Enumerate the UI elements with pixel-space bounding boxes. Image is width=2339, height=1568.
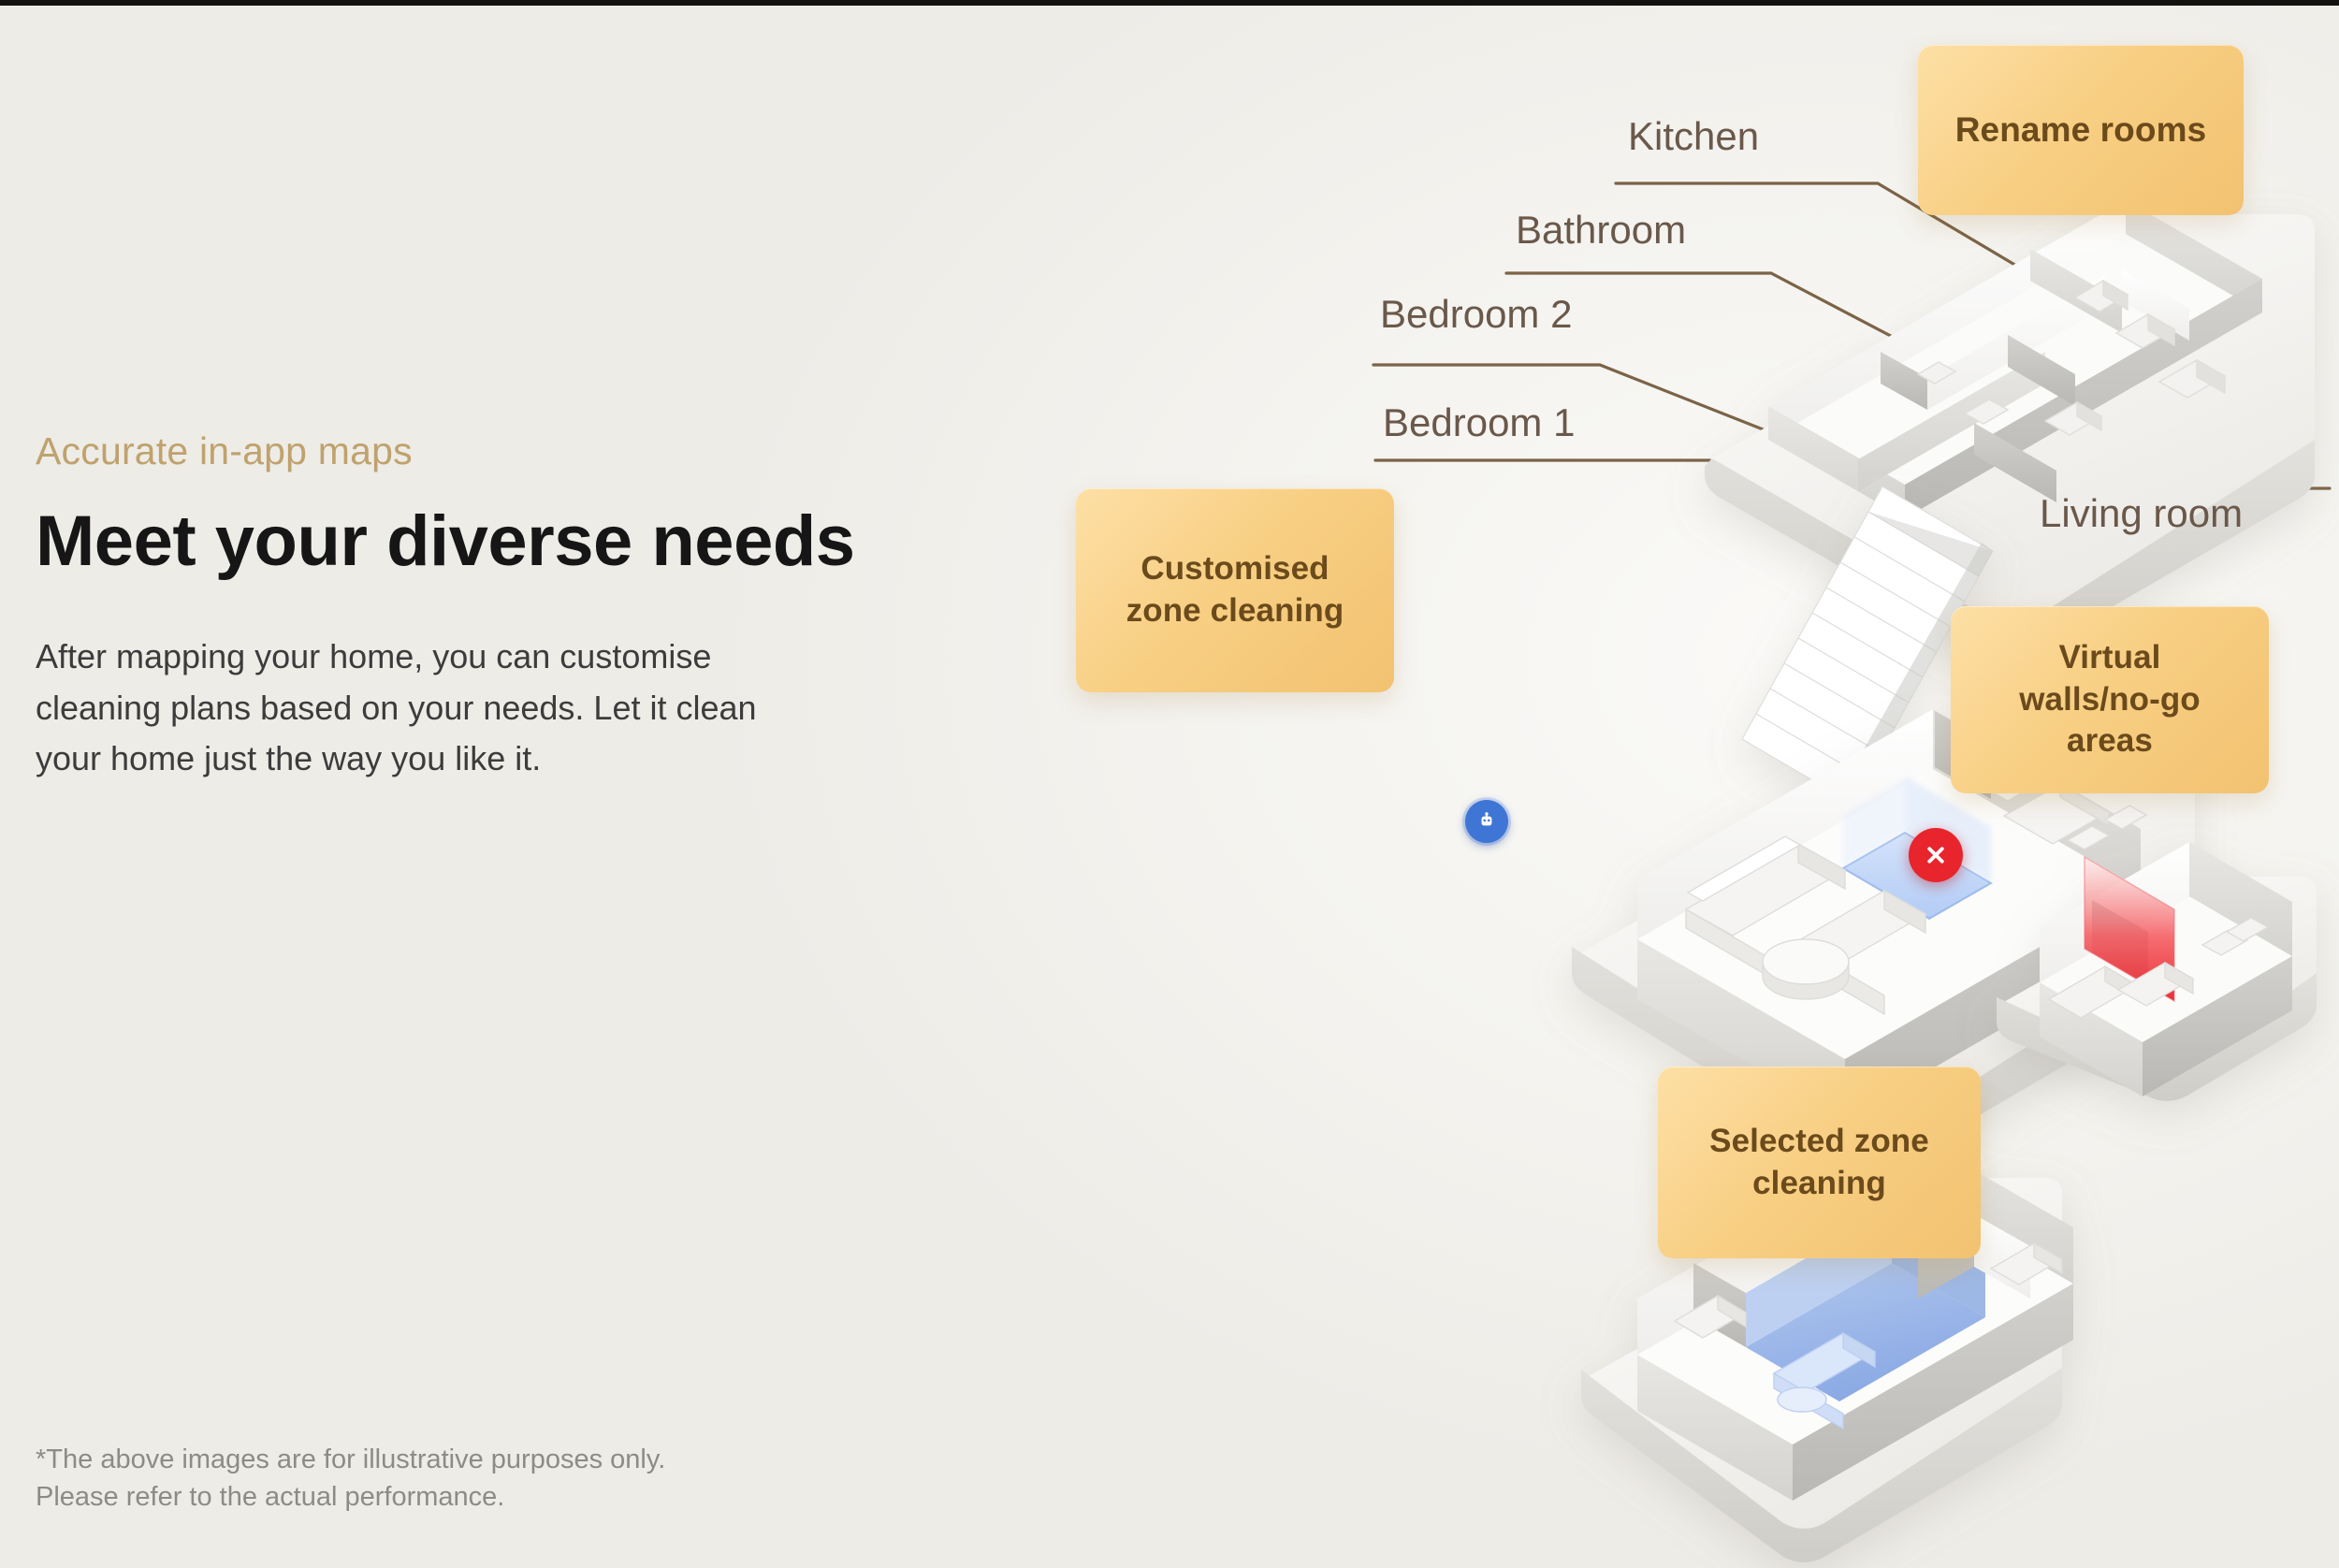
callout-selected-line-2: cleaning — [1709, 1163, 1929, 1205]
callout-selected-line-1: Selected zone — [1709, 1121, 1929, 1163]
top-edge-bar — [0, 0, 2339, 6]
callout-selected-zone-cleaning[interactable]: Selected zone cleaning — [1658, 1067, 1981, 1258]
callout-customised-line-2: zone cleaning — [1126, 590, 1344, 632]
page-title: Meet your diverse needs — [36, 504, 878, 579]
disclaimer-line-2: Please refer to the actual performance. — [36, 1478, 878, 1516]
room-label-kitchen: Kitchen — [1628, 114, 1759, 159]
room-label-living-room: Living room — [2040, 491, 2243, 536]
callout-customised-line-1: Customised — [1126, 548, 1344, 590]
callout-customised-zone-cleaning[interactable]: Customised zone cleaning — [1076, 488, 1394, 692]
body-paragraph: After mapping your home, you can customi… — [36, 632, 803, 785]
room-label-bedroom-1: Bedroom 1 — [1383, 400, 1575, 445]
callout-virtual-line-1: Virtual — [2019, 637, 2201, 679]
robot-icon — [1465, 800, 1508, 843]
callout-virtual-line-3: areas — [2019, 720, 2201, 762]
callout-virtual-walls-no-go-areas[interactable]: Virtual walls/no-go areas — [1951, 606, 2269, 793]
room-label-bedroom-2: Bedroom 2 — [1380, 292, 1572, 337]
floor-top — [1705, 200, 2315, 659]
copy-block: Accurate in-app maps Meet your diverse n… — [36, 430, 878, 785]
x-icon — [1909, 828, 1963, 882]
promo-scene: Accurate in-app maps Meet your diverse n… — [0, 0, 2339, 1568]
callout-rename-rooms-line-1: Rename rooms — [1955, 108, 2207, 152]
disclaimer: *The above images are for illustrative p… — [36, 1441, 878, 1516]
callout-rename-rooms[interactable]: Rename rooms — [1918, 45, 2244, 215]
eyebrow-text: Accurate in-app maps — [36, 430, 878, 472]
callout-virtual-line-2: walls/no-go — [2019, 679, 2201, 721]
disclaimer-line-1: *The above images are for illustrative p… — [36, 1441, 878, 1478]
room-label-bathroom: Bathroom — [1516, 208, 1686, 253]
